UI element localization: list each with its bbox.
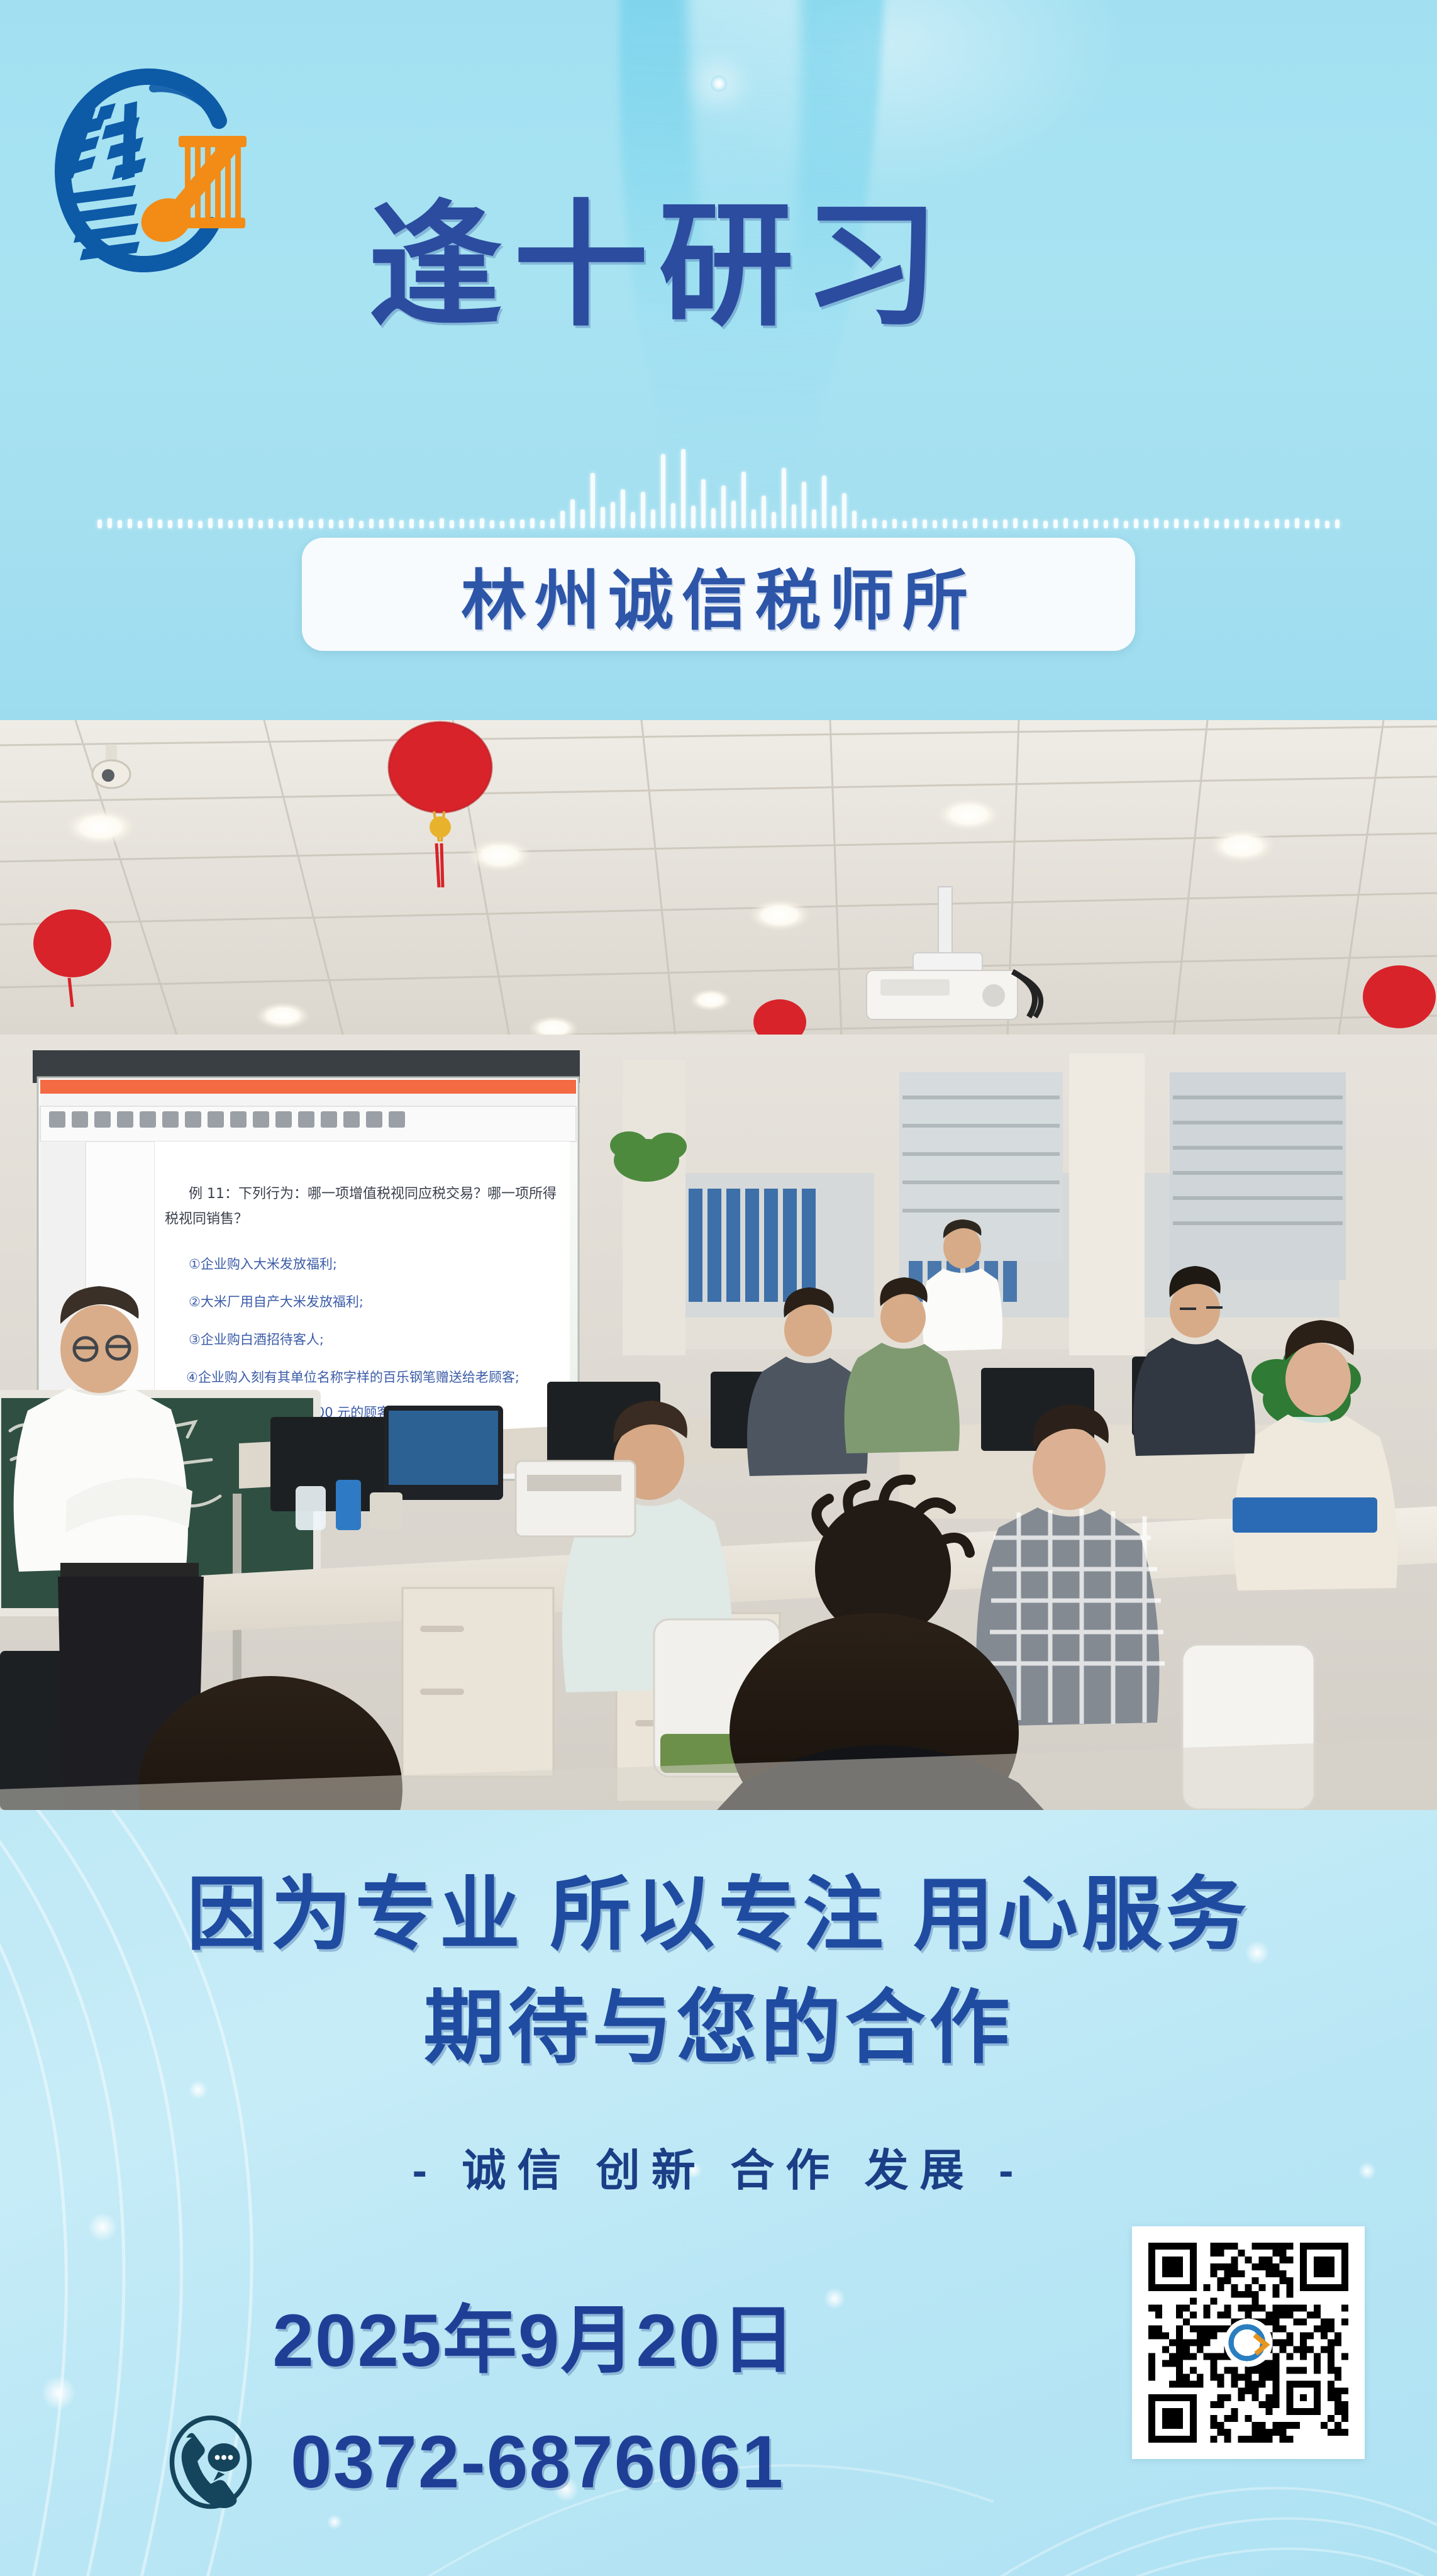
waveform-bar	[1335, 519, 1340, 528]
contact-phone-row[interactable]: 0372-6876061	[164, 2415, 1107, 2509]
waveform-bar	[1074, 520, 1078, 528]
waveform-bar	[681, 449, 685, 528]
waveform-bar	[1084, 519, 1088, 528]
waveform-bar	[812, 509, 816, 528]
waveform-bar	[419, 519, 424, 528]
waveform-bar	[1144, 519, 1148, 528]
waveform-bar	[691, 506, 696, 528]
waveform-bar	[1003, 519, 1007, 528]
waveform-bar	[1114, 518, 1118, 528]
waveform-bar	[1094, 519, 1098, 528]
waveform-bar	[892, 519, 897, 528]
waveform-bar	[1255, 520, 1259, 528]
waveform-bar	[611, 502, 615, 528]
waveform-bar	[802, 482, 806, 528]
waveform-bar	[842, 493, 846, 528]
wechat-qr-code[interactable]	[1132, 2226, 1365, 2459]
waveform-bar	[1285, 519, 1289, 528]
waveform-bar	[832, 506, 836, 528]
waveform-bar	[108, 518, 112, 528]
waveform-bar	[872, 518, 877, 528]
waveform-bar	[560, 511, 565, 528]
sparkle-icon	[711, 75, 727, 92]
waveform-bar	[409, 519, 414, 528]
waveform-bar	[1315, 519, 1319, 528]
waveform-bar	[580, 509, 585, 528]
svg-text:例 11：下列行为：哪一项增值税视同应税交易？哪一项所得: 例 11：下列行为：哪一项增值税视同应税交易？哪一项所得	[189, 1186, 557, 1202]
waveform-bar	[661, 454, 665, 528]
waveform-bar	[1204, 518, 1209, 528]
waveform-bar	[1134, 519, 1138, 528]
waveform-bar	[118, 520, 122, 528]
waveform-bar	[97, 519, 102, 528]
waveform-bar	[1224, 519, 1229, 528]
waveform-bar	[218, 519, 223, 528]
waveform-bar	[188, 519, 192, 528]
waveform-bar	[168, 520, 172, 528]
waveform-bar	[389, 518, 394, 528]
waveform-bar	[138, 521, 142, 528]
waveform-bar	[741, 472, 746, 528]
waveform-bar	[852, 511, 857, 528]
waveform-bar	[963, 521, 967, 528]
waveform-bar	[258, 520, 263, 528]
waveform-bar	[490, 520, 494, 528]
waveform-bar	[228, 520, 233, 528]
waveform-bar	[1184, 519, 1189, 528]
waveform-bar	[601, 507, 605, 528]
waveform-bar	[269, 519, 273, 528]
waveform-bar	[762, 496, 766, 528]
audio-waveform	[0, 434, 1437, 528]
company-logo	[30, 63, 282, 283]
waveform-bar	[1053, 519, 1058, 528]
waveform-bar	[1104, 520, 1108, 528]
waveform-bar	[1013, 518, 1018, 528]
waveform-bar	[248, 518, 253, 528]
waveform-bar	[1033, 519, 1038, 528]
waveform-bar	[319, 519, 323, 528]
waveform-bar	[440, 518, 444, 528]
waveform-bar	[550, 519, 555, 528]
waveform-bar	[128, 519, 132, 528]
svg-text:①企业购入大米发放福利;: ①企业购入大米发放福利;	[189, 1257, 337, 1272]
waveform-bar	[570, 499, 575, 528]
waveform-bar	[500, 521, 504, 528]
waveform-bar	[379, 519, 384, 528]
waveform-bar	[772, 512, 776, 528]
waveform-bar	[882, 520, 887, 528]
waveform-bar	[399, 520, 404, 528]
waveform-bar	[510, 519, 514, 528]
waveform-bar	[460, 519, 464, 528]
waveform-bar	[148, 518, 152, 528]
waveform-bar	[902, 521, 907, 528]
waveform-bar	[1305, 520, 1309, 528]
waveform-bar	[1154, 518, 1158, 528]
waveform-bar	[591, 473, 595, 528]
waveform-bar	[289, 519, 293, 528]
waveform-bar	[822, 475, 826, 528]
waveform-bar	[1245, 518, 1249, 528]
waveform-bar	[701, 479, 706, 528]
waveform-bar	[933, 520, 937, 528]
header-banner: 逢十研习 林州诚信税师所	[0, 0, 1437, 720]
waveform-bar	[1063, 518, 1068, 528]
waveform-bar	[329, 519, 333, 528]
waveform-bar	[782, 468, 786, 528]
waveform-bar	[1164, 520, 1168, 528]
phone-number[interactable]: 0372-6876061	[291, 2419, 784, 2505]
waveform-bar	[339, 520, 343, 528]
waveform-bar	[621, 489, 625, 528]
waveform-bar	[279, 521, 283, 528]
waveform-bar	[943, 519, 947, 528]
waveform-bar	[973, 518, 977, 528]
waveform-bar	[631, 512, 635, 528]
waveform-bar	[359, 521, 363, 528]
phone-handset-icon	[164, 2415, 258, 2509]
waveform-bar	[430, 521, 434, 528]
waveform-bar	[1234, 519, 1239, 528]
svg-text:③企业购白酒招待客人;: ③企业购白酒招待客人;	[189, 1332, 324, 1347]
waveform-bar	[1194, 521, 1199, 528]
waveform-bar	[993, 520, 997, 528]
svg-text:②大米厂用自产大米发放福利;: ②大米厂用自产大米发放福利;	[189, 1294, 363, 1309]
waveform-bar	[752, 509, 756, 528]
waveform-bar	[1124, 521, 1128, 528]
svg-text:税视同销售？: 税视同销售？	[165, 1211, 248, 1227]
waveform-bar	[671, 503, 675, 528]
waveform-bar	[309, 520, 313, 528]
waveform-bar	[731, 501, 736, 528]
waveform-bar	[450, 520, 454, 528]
waveform-bar	[158, 519, 162, 528]
training-session-photo: 例 11：下列行为：哪一项增值税视同应税交易？哪一项所得 税视同销售？ ①企业购…	[0, 720, 1437, 1810]
waveform-bar	[1265, 521, 1269, 528]
waveform-bar	[470, 519, 474, 528]
waveform-bar	[530, 518, 535, 528]
waveform-bar	[238, 519, 243, 528]
waveform-bar	[198, 521, 203, 528]
poster-root: 逢十研习 林州诚信税师所	[0, 0, 1437, 2576]
waveform-bar	[792, 504, 796, 528]
waveform-bar	[178, 519, 182, 528]
waveform-bar	[641, 492, 645, 528]
waveform-bar	[1295, 518, 1299, 528]
waveform-bar	[711, 508, 716, 528]
organization-name: 林州诚信税师所	[461, 547, 976, 642]
waveform-bar	[540, 520, 545, 528]
waveform-bar	[349, 518, 353, 528]
waveform-bar	[721, 486, 726, 528]
organization-name-pill: 林州诚信税师所	[302, 538, 1135, 651]
company-motto: - 诚信 创新 合作 发展 -	[0, 2135, 1437, 2199]
waveform-bar	[1275, 519, 1279, 528]
event-date: 2025年9月20日	[0, 2280, 1069, 2387]
slogan-line-1: 因为专业 所以专注 用心服务	[0, 1849, 1437, 1965]
waveform-bar	[208, 518, 213, 528]
waveform-bar	[913, 518, 917, 528]
waveform-bar	[983, 519, 987, 528]
waveform-bar	[1325, 521, 1329, 528]
waveform-bar	[862, 519, 867, 528]
waveform-bar	[299, 518, 303, 528]
svg-text:④企业购入刻有其单位名称字样的百乐钢笔赠送给老顾客;: ④企业购入刻有其单位名称字样的百乐钢笔赠送给老顾客;	[186, 1370, 519, 1385]
page-title: 逢十研习	[368, 198, 949, 333]
waveform-bar	[923, 519, 927, 528]
slogan-line-2: 期待与您的合作	[0, 1962, 1437, 2079]
waveform-bar	[369, 519, 374, 528]
waveform-bar	[480, 518, 484, 528]
waveform-bar	[1043, 521, 1048, 528]
waveform-bar	[953, 519, 957, 528]
waveform-bar	[651, 509, 655, 528]
waveform-bar	[1174, 519, 1179, 528]
waveform-bar	[1214, 520, 1219, 528]
waveform-bar	[1023, 520, 1028, 528]
waveform-bar	[520, 519, 524, 528]
